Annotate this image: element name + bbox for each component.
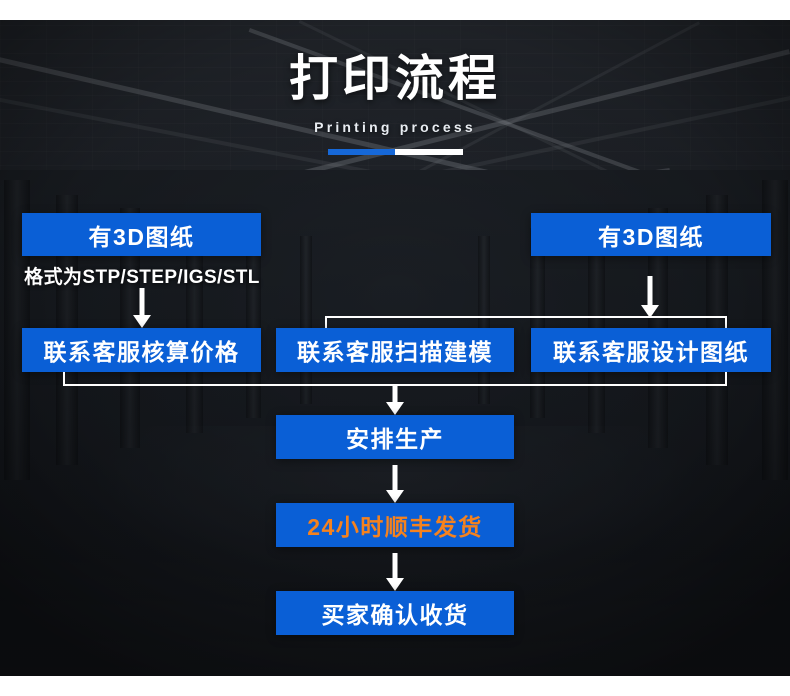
- bottom-white-band: [0, 676, 790, 696]
- top-white-band: [0, 0, 790, 20]
- page-title: 打印流程: [0, 52, 790, 106]
- flow-box-contact-scan-model[interactable]: 联系客服扫描建模: [276, 328, 514, 372]
- page-subtitle: Printing process: [0, 119, 790, 135]
- flow-box-has-3d-drawing-left[interactable]: 有3D图纸: [22, 213, 261, 256]
- down-arrow-icon: [383, 465, 407, 503]
- divider-segment-blue: [328, 149, 395, 155]
- bracket-connector-icon: [63, 372, 727, 386]
- down-arrow-icon: [383, 553, 407, 591]
- flow-box-buyer-confirm-receipt[interactable]: 买家确认收货: [276, 591, 514, 635]
- divider-segment-white: [395, 149, 463, 155]
- down-arrow-icon: [130, 288, 154, 328]
- printing-process-banner: 打印流程 Printing process 有3D图纸 格式为STP/STEP/…: [0, 0, 790, 696]
- down-arrow-icon: [383, 386, 407, 415]
- down-arrow-icon: [638, 276, 662, 318]
- header: 打印流程 Printing process: [0, 52, 790, 155]
- flow-note-file-formats: 格式为STP/STEP/IGS/STL: [12, 262, 272, 289]
- flow-box-arrange-production[interactable]: 安排生产: [276, 415, 514, 459]
- flow-box-24h-sf-shipping[interactable]: 24小时顺丰发货: [276, 503, 514, 547]
- flow-box-has-3d-drawing-right[interactable]: 有3D图纸: [531, 213, 771, 256]
- flow-box-contact-design-drawing[interactable]: 联系客服设计图纸: [531, 328, 771, 372]
- flow-box-contact-price[interactable]: 联系客服核算价格: [22, 328, 261, 372]
- title-divider: [328, 149, 463, 155]
